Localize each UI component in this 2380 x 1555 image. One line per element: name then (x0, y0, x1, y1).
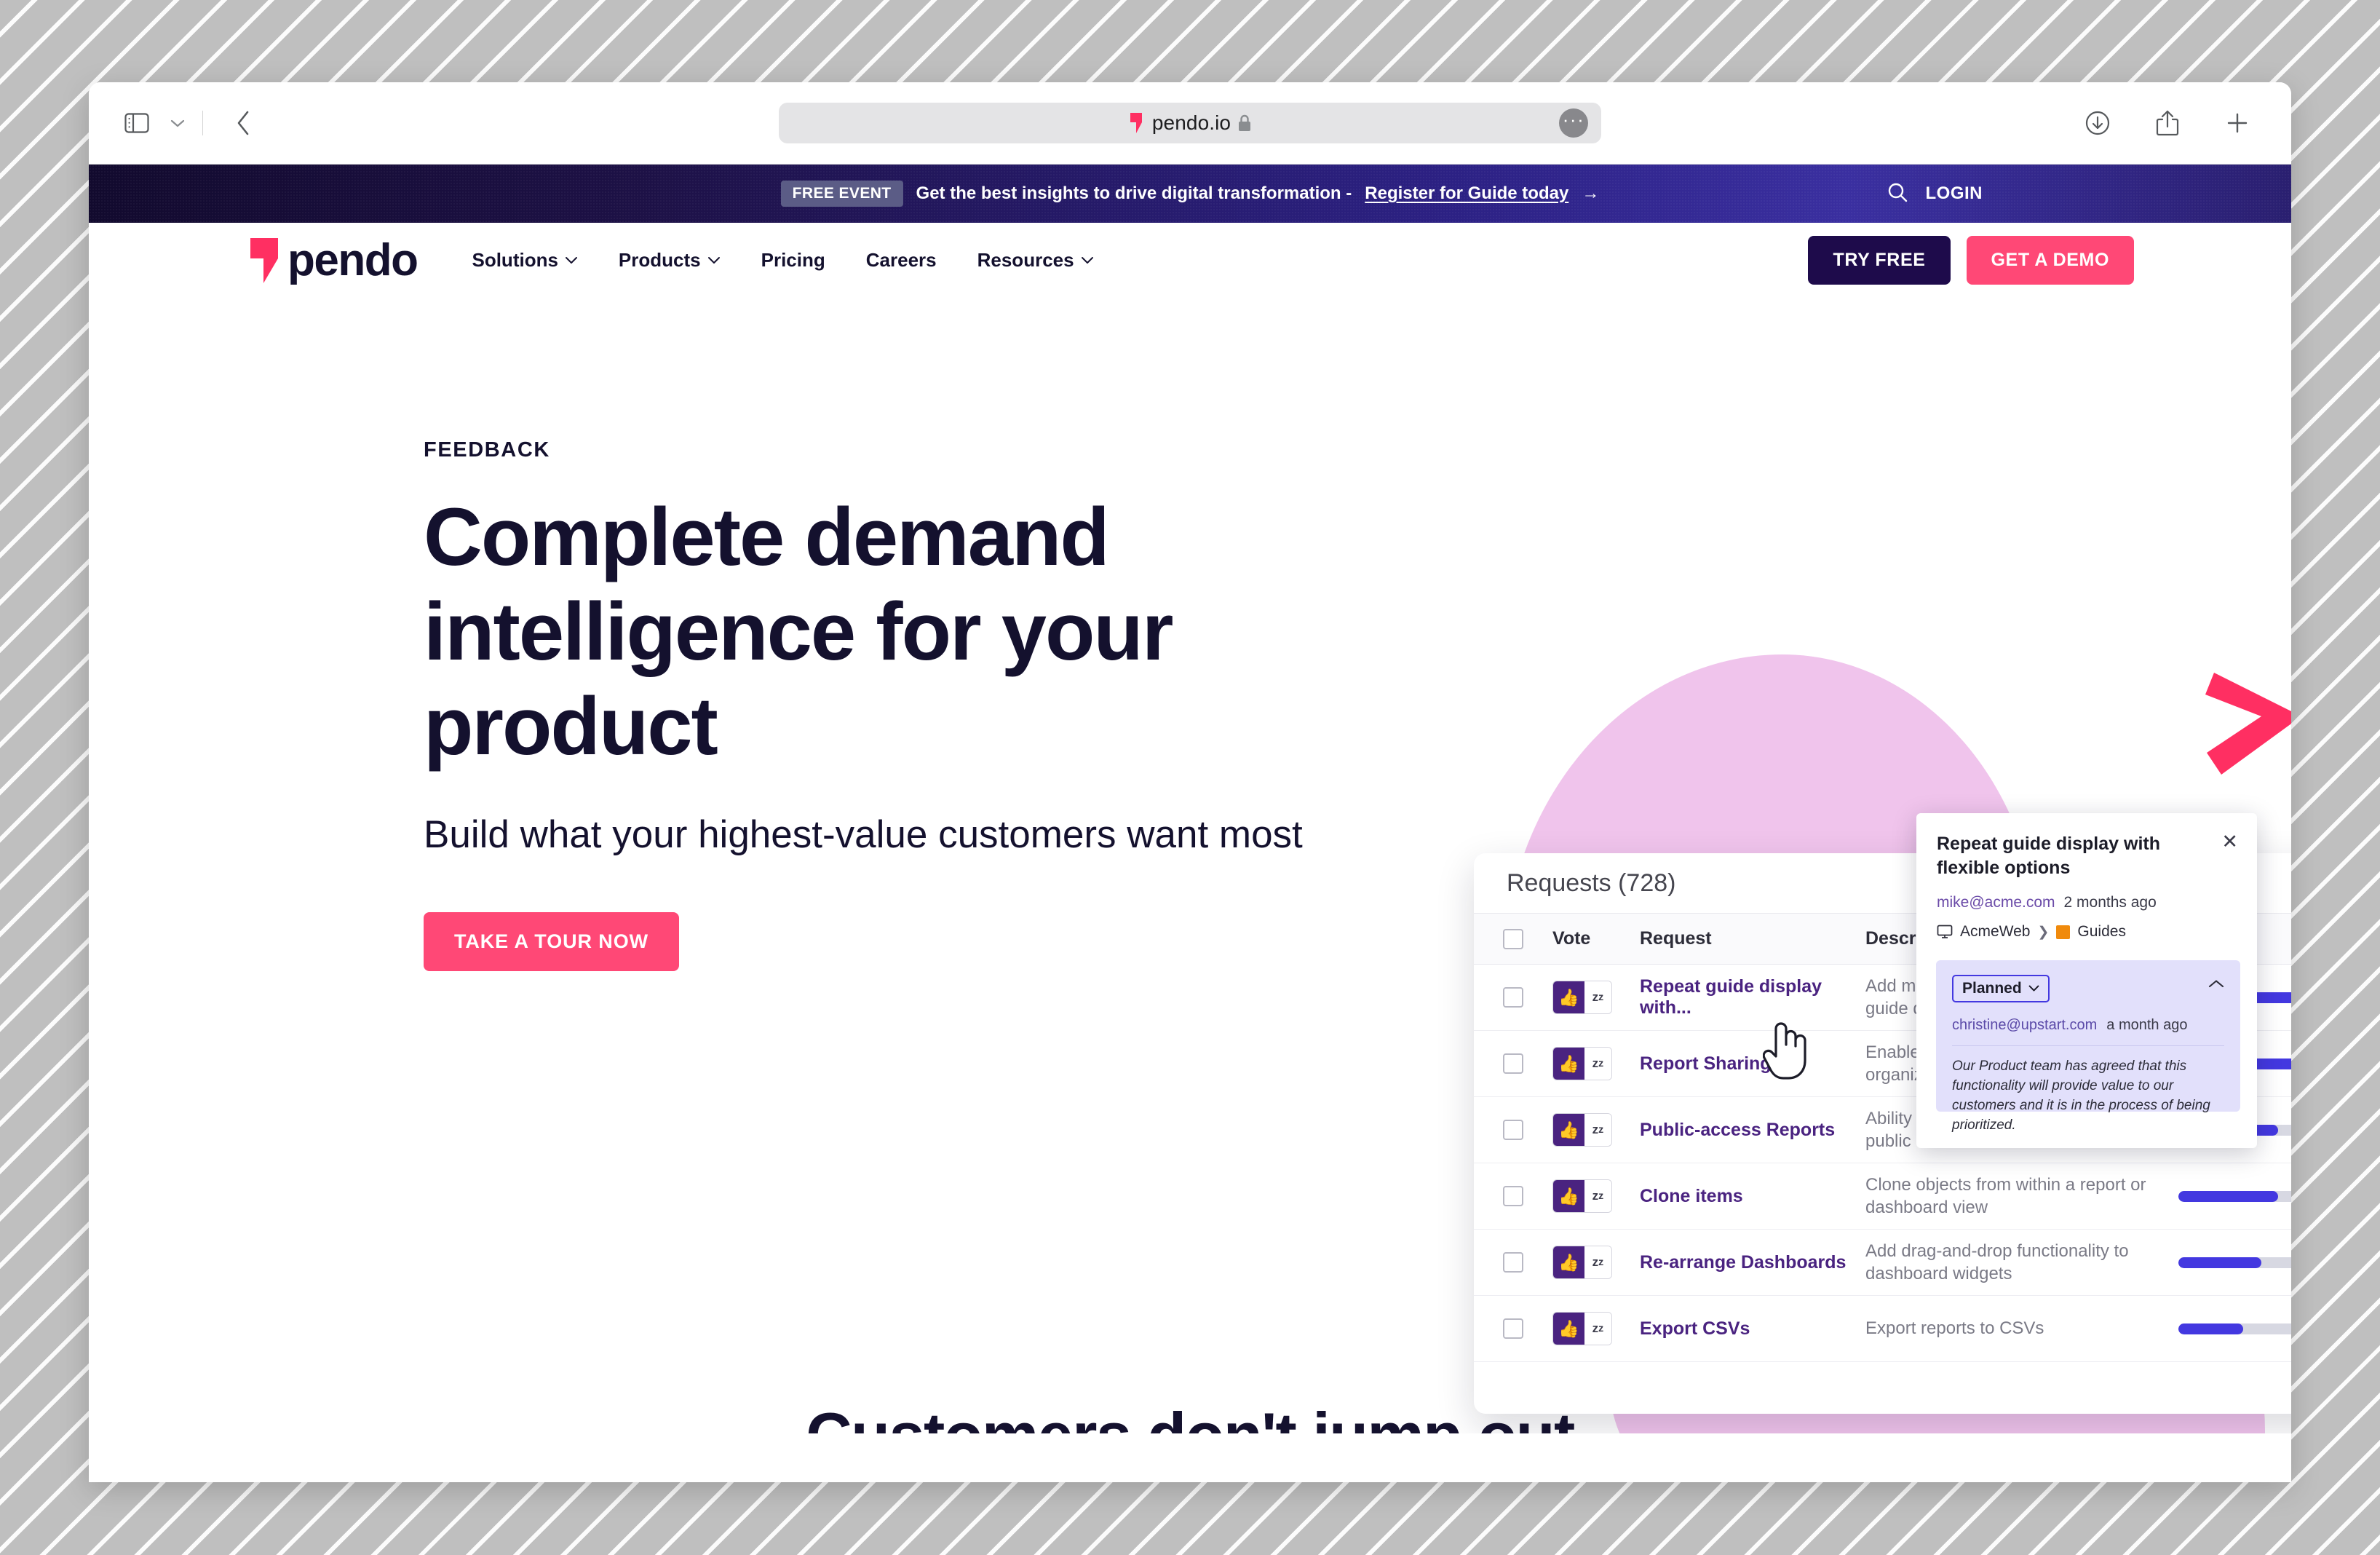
thumbs-up-icon[interactable]: 👍 (1553, 1114, 1584, 1146)
login-link[interactable]: LOGIN (1926, 183, 1983, 204)
vote-group[interactable]: 👍 zz (1552, 1246, 1612, 1279)
page-content: FREE EVENT Get the best insights to driv… (89, 165, 2291, 1482)
nav-item-resources[interactable]: Resources (977, 249, 1094, 272)
browser-window: pendo.io ··· (89, 82, 2291, 1482)
vote-group[interactable]: 👍 zz (1552, 981, 1612, 1014)
request-description: Export reports to CSVs (1865, 1317, 2178, 1340)
nav-item-products[interactable]: Products (619, 249, 721, 272)
request-description: Clone objects from within a report or da… (1865, 1174, 2178, 1219)
select-all-checkbox[interactable] (1474, 929, 1552, 949)
thumbs-up-icon[interactable]: 👍 (1553, 1048, 1584, 1080)
table-row[interactable]: 👍 zz Re-arrange Dashboards Add drag-and-… (1474, 1230, 2291, 1296)
vote-cell: 👍 zz (1552, 1312, 1640, 1345)
announcement-banner: FREE EVENT Get the best insights to driv… (89, 165, 2291, 223)
table-row[interactable]: 👍 zz Export CSVs Export reports to CSVs (1474, 1296, 2291, 1362)
vote-group[interactable]: 👍 zz (1552, 1113, 1612, 1147)
free-event-badge: FREE EVENT (781, 181, 903, 207)
breadcrumb: AcmeWeb ❯ Guides (1937, 923, 2237, 941)
take-a-tour-button[interactable]: TAKE A TOUR NOW (424, 912, 679, 971)
nav-cta-group: TRY FREE GET A DEMO (1808, 236, 2134, 285)
browser-toolbar: pendo.io ··· (89, 82, 2291, 165)
hero-subtitle: Build what your highest-value customers … (424, 810, 1384, 860)
popup-title: Repeat guide display with flexible optio… (1937, 832, 2213, 879)
request-description: Add drag-and-drop functionality to dashb… (1865, 1240, 2178, 1285)
thumbs-up-icon[interactable]: 👍 (1553, 981, 1584, 1013)
chevron-down-icon (707, 256, 721, 264)
pendo-bolt-icon (246, 237, 285, 285)
row-checkbox[interactable] (1474, 1318, 1552, 1339)
breadcrumb-app[interactable]: AcmeWeb (1960, 923, 2030, 941)
divider (1952, 1045, 2224, 1046)
snooze-zzz-icon[interactable]: zz (1584, 1246, 1611, 1278)
row-checkbox[interactable] (1474, 1120, 1552, 1140)
popup-timestamp: 2 months ago (2064, 894, 2157, 911)
snooze-zzz-icon[interactable]: zz (1584, 1114, 1611, 1146)
toolbar-right-controls (2077, 103, 2258, 143)
pendo-logo[interactable]: pendo (246, 234, 417, 286)
request-detail-popup: Repeat guide display with flexible optio… (1916, 813, 2257, 1148)
nav-item-label: Products (619, 249, 701, 272)
inner-author: christine@upstart.com (1952, 1017, 2097, 1034)
ellipsis-icon[interactable]: ··· (1559, 108, 1588, 138)
vote-group[interactable]: 👍 zz (1552, 1312, 1612, 1345)
nav-links: Solutions Products Pricing Careers Resou… (472, 249, 1093, 272)
column-header-request: Request (1640, 928, 1865, 949)
url-bar[interactable]: pendo.io ··· (779, 103, 1601, 143)
hero-eyebrow: FEEDBACK (424, 438, 1384, 462)
guides-color-swatch (2056, 925, 2070, 939)
get-a-demo-button[interactable]: GET A DEMO (1967, 236, 2134, 285)
row-checkbox[interactable] (1474, 1053, 1552, 1074)
request-name[interactable]: Public-access Reports (1640, 1120, 1865, 1141)
value-bar-fill (2178, 1323, 2243, 1334)
thumbs-up-icon[interactable]: 👍 (1553, 1180, 1584, 1212)
status-update-body: Our Product team has agreed that this fu… (1952, 1057, 2224, 1136)
nav-item-label: Careers (866, 249, 937, 272)
snooze-zzz-icon[interactable]: zz (1584, 1313, 1611, 1345)
try-free-button[interactable]: TRY FREE (1808, 236, 1950, 285)
request-name[interactable]: Re-arrange Dashboards (1640, 1252, 1865, 1273)
vote-group[interactable]: 👍 zz (1552, 1047, 1612, 1080)
vote-group[interactable]: 👍 zz (1552, 1179, 1612, 1213)
banner-right-controls: LOGIN (1887, 181, 1983, 207)
register-link[interactable]: Register for Guide today (1365, 183, 1568, 204)
lock-icon (1237, 114, 1252, 132)
thumbs-up-icon[interactable]: 👍 (1553, 1246, 1584, 1278)
chevron-right-icon: ❯ (2037, 924, 2049, 941)
requests-title: Requests (728) (1507, 869, 1675, 898)
page-title: Complete demand intelligence for your pr… (424, 490, 1384, 774)
collapse-chevron-up-icon[interactable] (2208, 976, 2224, 993)
arrow-right-icon: → (1582, 183, 1599, 204)
column-header-vote: Vote (1552, 928, 1640, 949)
vote-cell: 👍 zz (1552, 1047, 1640, 1080)
value-bar-fill (2178, 1257, 2261, 1268)
inner-timestamp: a month ago (2106, 1017, 2187, 1034)
hero-text-block: FEEDBACK Complete demand intelligence fo… (424, 438, 1384, 971)
table-row[interactable]: 👍 zz Clone items Clone objects from with… (1474, 1163, 2291, 1230)
status-label: Planned (1962, 980, 2022, 997)
request-name[interactable]: Report Sharing (1640, 1053, 1865, 1075)
value-cell (2178, 1257, 2291, 1268)
value-bar-fill (2178, 1191, 2278, 1202)
nav-item-careers[interactable]: Careers (866, 249, 937, 272)
row-checkbox[interactable] (1474, 1186, 1552, 1206)
thumbs-up-icon[interactable]: 👍 (1553, 1313, 1584, 1345)
nav-item-label: Solutions (472, 249, 558, 272)
share-icon[interactable] (2147, 103, 2188, 143)
hero-section: FEEDBACK Complete demand intelligence fo… (89, 298, 2291, 1433)
url-bar-container: pendo.io ··· (89, 103, 2291, 143)
close-icon[interactable]: ✕ (2221, 832, 2238, 852)
plus-icon[interactable] (2217, 103, 2258, 143)
value-bar-track (2178, 1323, 2291, 1334)
site-navbar: pendo Solutions Products Pricing Careers (89, 223, 2291, 298)
status-update-panel: Planned christine@upstart.com a month ag… (1936, 960, 2240, 1112)
snooze-zzz-icon[interactable]: zz (1584, 1180, 1611, 1212)
nav-item-pricing[interactable]: Pricing (761, 249, 825, 272)
chevron-down-icon (1081, 256, 1094, 264)
download-icon[interactable] (2077, 103, 2118, 143)
popup-author: mike@acme.com (1937, 894, 2055, 911)
pendo-bolt-favicon (1128, 112, 1146, 134)
status-badge[interactable]: Planned (1952, 975, 2050, 1002)
vote-cell: 👍 zz (1552, 981, 1640, 1014)
value-bar-track (2178, 1191, 2291, 1202)
monitor-icon (1937, 925, 1953, 939)
value-cell (2178, 1191, 2291, 1202)
search-icon[interactable] (1887, 181, 1908, 207)
request-name[interactable]: Export CSVs (1640, 1318, 1865, 1340)
chevron-down-icon (2028, 985, 2039, 992)
value-cell (2178, 1323, 2291, 1334)
nav-item-label: Resources (977, 249, 1074, 272)
row-checkbox[interactable] (1474, 1252, 1552, 1273)
chevron-down-icon (565, 256, 578, 264)
inner-meta: christine@upstart.com a month ago (1952, 1017, 2224, 1034)
value-bar-track (2178, 1257, 2291, 1268)
row-checkbox[interactable] (1474, 987, 1552, 1008)
announcement-text: Get the best insights to drive digital t… (916, 183, 1352, 204)
request-name[interactable]: Clone items (1640, 1186, 1865, 1207)
nav-item-solutions[interactable]: Solutions (472, 249, 577, 272)
vote-cell: 👍 zz (1552, 1246, 1640, 1279)
next-section-heading: Customers don't jump out (806, 1398, 1574, 1433)
vote-cell: 👍 zz (1552, 1179, 1640, 1213)
vote-cell: 👍 zz (1552, 1113, 1640, 1147)
snooze-zzz-icon[interactable]: zz (1584, 981, 1611, 1013)
snooze-zzz-icon[interactable]: zz (1584, 1048, 1611, 1080)
url-text: pendo.io (1152, 111, 1231, 135)
url-content: pendo.io (1128, 111, 1252, 135)
request-name[interactable]: Repeat guide display with... (1640, 976, 1865, 1018)
breadcrumb-section[interactable]: Guides (2077, 923, 2126, 941)
logo-wordmark: pendo (287, 234, 417, 286)
nav-item-label: Pricing (761, 249, 825, 272)
popup-meta: mike@acme.com 2 months ago (1937, 894, 2237, 911)
